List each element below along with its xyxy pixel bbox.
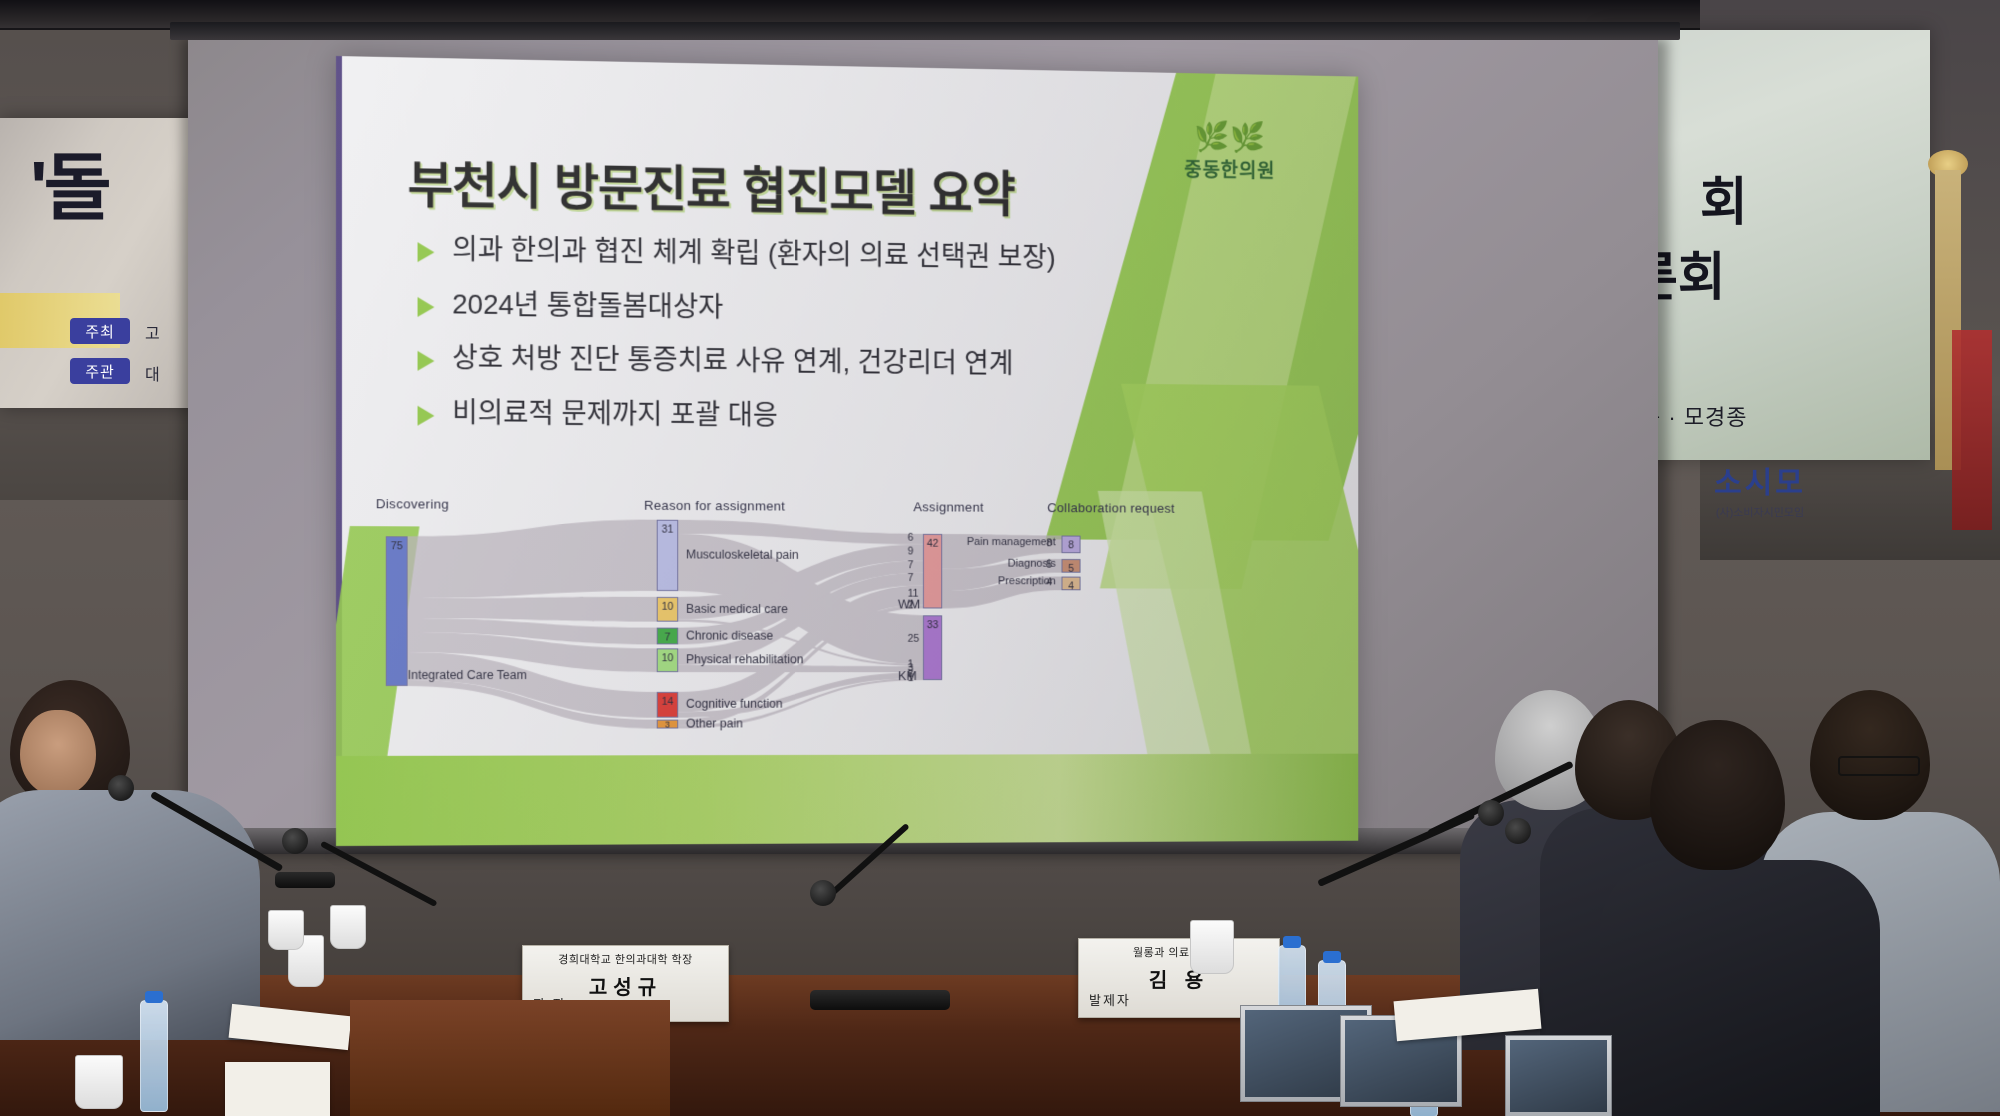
sankey-link-value: 7 bbox=[908, 572, 914, 584]
microphone-head bbox=[1478, 800, 1504, 826]
bullet-text: 상호 처방 진단 통증치료 사유 연계, 건강리더 연계 bbox=[452, 341, 1013, 380]
water-bottle bbox=[140, 1000, 168, 1112]
list-item: 상호 처방 진단 통증치료 사유 연계, 건강리더 연계 bbox=[418, 341, 1286, 383]
sankey-node-ict: 75 bbox=[386, 536, 408, 686]
sankey-link-value: 25 bbox=[908, 633, 920, 645]
laptop-screen bbox=[1510, 1040, 1607, 1112]
sankey-node-label-bmc: Basic medical care bbox=[686, 601, 788, 615]
clinic-logo: 🌿🌿 중동한의원 bbox=[1150, 123, 1310, 184]
sankey-link-value: 8 bbox=[1046, 537, 1052, 549]
bullet-text: 의과 한의과 협진 체계 확립 (환자의 의료 선택권 보장) bbox=[452, 233, 1055, 275]
triangle-bullet-icon bbox=[418, 406, 435, 426]
bottle-cap bbox=[145, 991, 163, 1003]
list-item: 2024년 통합돌봄대상자 bbox=[418, 287, 1286, 331]
nameplate-left-affiliation: 경희대학교 한의과대학 학장 bbox=[523, 951, 728, 967]
triangle-bullet-icon bbox=[418, 242, 435, 262]
sankey-link-value: 9 bbox=[908, 546, 914, 558]
banner-host-text: 고 bbox=[145, 320, 160, 344]
sankey-column-header-3: Collaboration request bbox=[1047, 500, 1175, 515]
flag-cloth bbox=[1952, 330, 1992, 530]
sankey-column-header-0: Discovering bbox=[376, 496, 449, 511]
sankey-node-label-msk: Musculoskeletal pain bbox=[686, 548, 799, 562]
projector-screen: 🌿🌿 중동한의원 부천시 방문진료 협진모델 요약 의과 한의과 협진 체계 확… bbox=[188, 38, 1658, 838]
sankey-node-chr: 7 bbox=[657, 628, 678, 645]
nameplate-right-name: 김 용 bbox=[1079, 964, 1279, 993]
somsimo-logo-text: 소시모 bbox=[1690, 458, 1830, 502]
sankey-node-value: 33 bbox=[924, 619, 941, 631]
microphone-head bbox=[1505, 818, 1531, 844]
sankey-node-value: 3 bbox=[658, 720, 678, 730]
paper-cup bbox=[268, 910, 304, 950]
leaf-icon: 🌿🌿 bbox=[1150, 123, 1310, 152]
sankey-link-ict-bmc bbox=[408, 596, 657, 621]
sankey-node-value: 14 bbox=[658, 696, 678, 708]
sankey-node-value: 10 bbox=[658, 652, 678, 664]
bottle-cap bbox=[1323, 951, 1341, 963]
eyeglasses bbox=[1838, 756, 1920, 776]
sankey-node-value: 42 bbox=[924, 538, 941, 550]
sankey-node-value: 10 bbox=[658, 601, 678, 613]
sankey-node-pres: 4 bbox=[1062, 577, 1081, 591]
sankey-link-ict-msk bbox=[408, 518, 657, 599]
projector-screen-frame: 🌿🌿 중동한의원 부천시 방문진료 협진모델 요약 의과 한의과 협진 체계 확… bbox=[170, 22, 1680, 852]
microphone-base bbox=[810, 990, 950, 1010]
clinic-logo-text: 중동한의원 bbox=[1150, 153, 1310, 184]
paper-cup bbox=[330, 905, 366, 949]
sankey-node-value: 8 bbox=[1062, 539, 1079, 551]
sankey-diagram: Discovering Reason for assignment Assign… bbox=[366, 496, 1330, 776]
sankey-link-value: 11 bbox=[908, 588, 919, 600]
sankey-link-value: 5 bbox=[1046, 559, 1052, 571]
paper-cup bbox=[75, 1055, 123, 1109]
sankey-node-label-cog: Cognitive function bbox=[686, 697, 783, 711]
sankey-flows bbox=[366, 496, 1330, 776]
nameplate-right-affiliation: 월롱과 의료 의사실 bbox=[1079, 944, 1279, 960]
somsimo-logo-sub: (사)소비자시민모임 bbox=[1690, 504, 1830, 520]
nameplate-right-role: 발제자 bbox=[1089, 990, 1131, 1009]
sankey-node-oth: 3 bbox=[657, 720, 678, 729]
document-paper bbox=[225, 1062, 330, 1116]
list-item: 비의료적 문제까지 포괄 대응 bbox=[418, 396, 1286, 437]
sankey-node-wm: 42 bbox=[923, 534, 942, 609]
sankey-column-header-1: Reason for assignment bbox=[644, 498, 785, 514]
banner-right-line1: 회 bbox=[1700, 160, 1748, 235]
sankey-node-msk: 31 bbox=[657, 520, 678, 591]
microphone-head bbox=[810, 880, 836, 906]
sankey-node-label-oth: Other pain bbox=[686, 716, 743, 730]
sankey-link-value: 7 bbox=[908, 560, 914, 572]
bullet-text: 비의료적 문제까지 포괄 대응 bbox=[452, 396, 778, 432]
sankey-node-label-phr: Physical rehabilitation bbox=[686, 652, 803, 666]
person-left-body bbox=[0, 790, 260, 1040]
projected-slide-wrapper: 🌿🌿 중동한의원 부천시 방문진료 협진모델 요약 의과 한의과 협진 체계 확… bbox=[336, 56, 1358, 846]
banner-right-logo: 소시모 (사)소비자시민모임 bbox=[1690, 458, 1830, 520]
bottle-cap bbox=[1283, 936, 1301, 948]
microphone-base bbox=[275, 872, 335, 888]
screen-roller-case bbox=[170, 22, 1680, 40]
sankey-node-label-pain: Pain management bbox=[967, 536, 1056, 548]
sankey-node-km: 33 bbox=[923, 615, 942, 680]
sankey-node-value: 7 bbox=[658, 632, 678, 644]
sankey-node-pain: 8 bbox=[1062, 536, 1081, 554]
person-right-3-body bbox=[1600, 860, 1880, 1116]
banner-org-badge: 주관 bbox=[70, 358, 130, 384]
banner-host-badge: 주최 bbox=[70, 318, 130, 344]
sankey-node-value: 4 bbox=[1062, 580, 1079, 592]
triangle-bullet-icon bbox=[418, 351, 435, 371]
sankey-node-value: 31 bbox=[658, 524, 678, 536]
sankey-link-value: 6 bbox=[908, 532, 914, 544]
sankey-node-value: 5 bbox=[1062, 563, 1079, 575]
sankey-node-bmc: 10 bbox=[657, 597, 678, 622]
sankey-node-diag: 5 bbox=[1062, 559, 1081, 573]
microphone-head bbox=[282, 828, 308, 854]
triangle-bullet-icon bbox=[418, 297, 435, 317]
sankey-node-phr: 10 bbox=[657, 648, 678, 672]
sankey-node-label-chr: Chronic disease bbox=[686, 628, 773, 642]
laptop[interactable] bbox=[1505, 1035, 1612, 1116]
sankey-node-label-ict: Integrated Care Team bbox=[408, 668, 527, 682]
sankey-link-value: 4 bbox=[1046, 577, 1052, 589]
paper-cup bbox=[1190, 920, 1234, 974]
sankey-node-cog: 14 bbox=[657, 692, 678, 718]
banner-org-text: 대 bbox=[145, 361, 160, 385]
sankey-link-value: 1 bbox=[908, 672, 914, 684]
sankey-link-value: 2 bbox=[908, 600, 914, 612]
microphone-head bbox=[108, 775, 134, 801]
slide-title: 부천시 방문진료 협진모델 요약 bbox=[408, 145, 1015, 226]
banner-left-title: '돌 bbox=[30, 128, 108, 235]
bullet-text: 2024년 통합돌봄대상자 bbox=[452, 287, 723, 324]
projected-slide: 🌿🌿 중동한의원 부천시 방문진료 협진모델 요약 의과 한의과 협진 체계 확… bbox=[336, 56, 1358, 846]
person-right-3-head bbox=[1650, 720, 1785, 870]
screenshot-root: '돌 주최 주관 고 대 회 론회 욱 · 모경종 소시모 (사)소비자시민모임 bbox=[0, 0, 2000, 1116]
table-front-panel bbox=[350, 1000, 670, 1116]
person-left-face bbox=[20, 710, 96, 796]
slide-bullet-list: 의과 한의과 협진 체계 확립 (환자의 의료 선택권 보장) 2024년 통합… bbox=[418, 232, 1286, 456]
sankey-node-value: 75 bbox=[387, 540, 407, 552]
sankey-column-header-2: Assignment bbox=[913, 499, 983, 514]
